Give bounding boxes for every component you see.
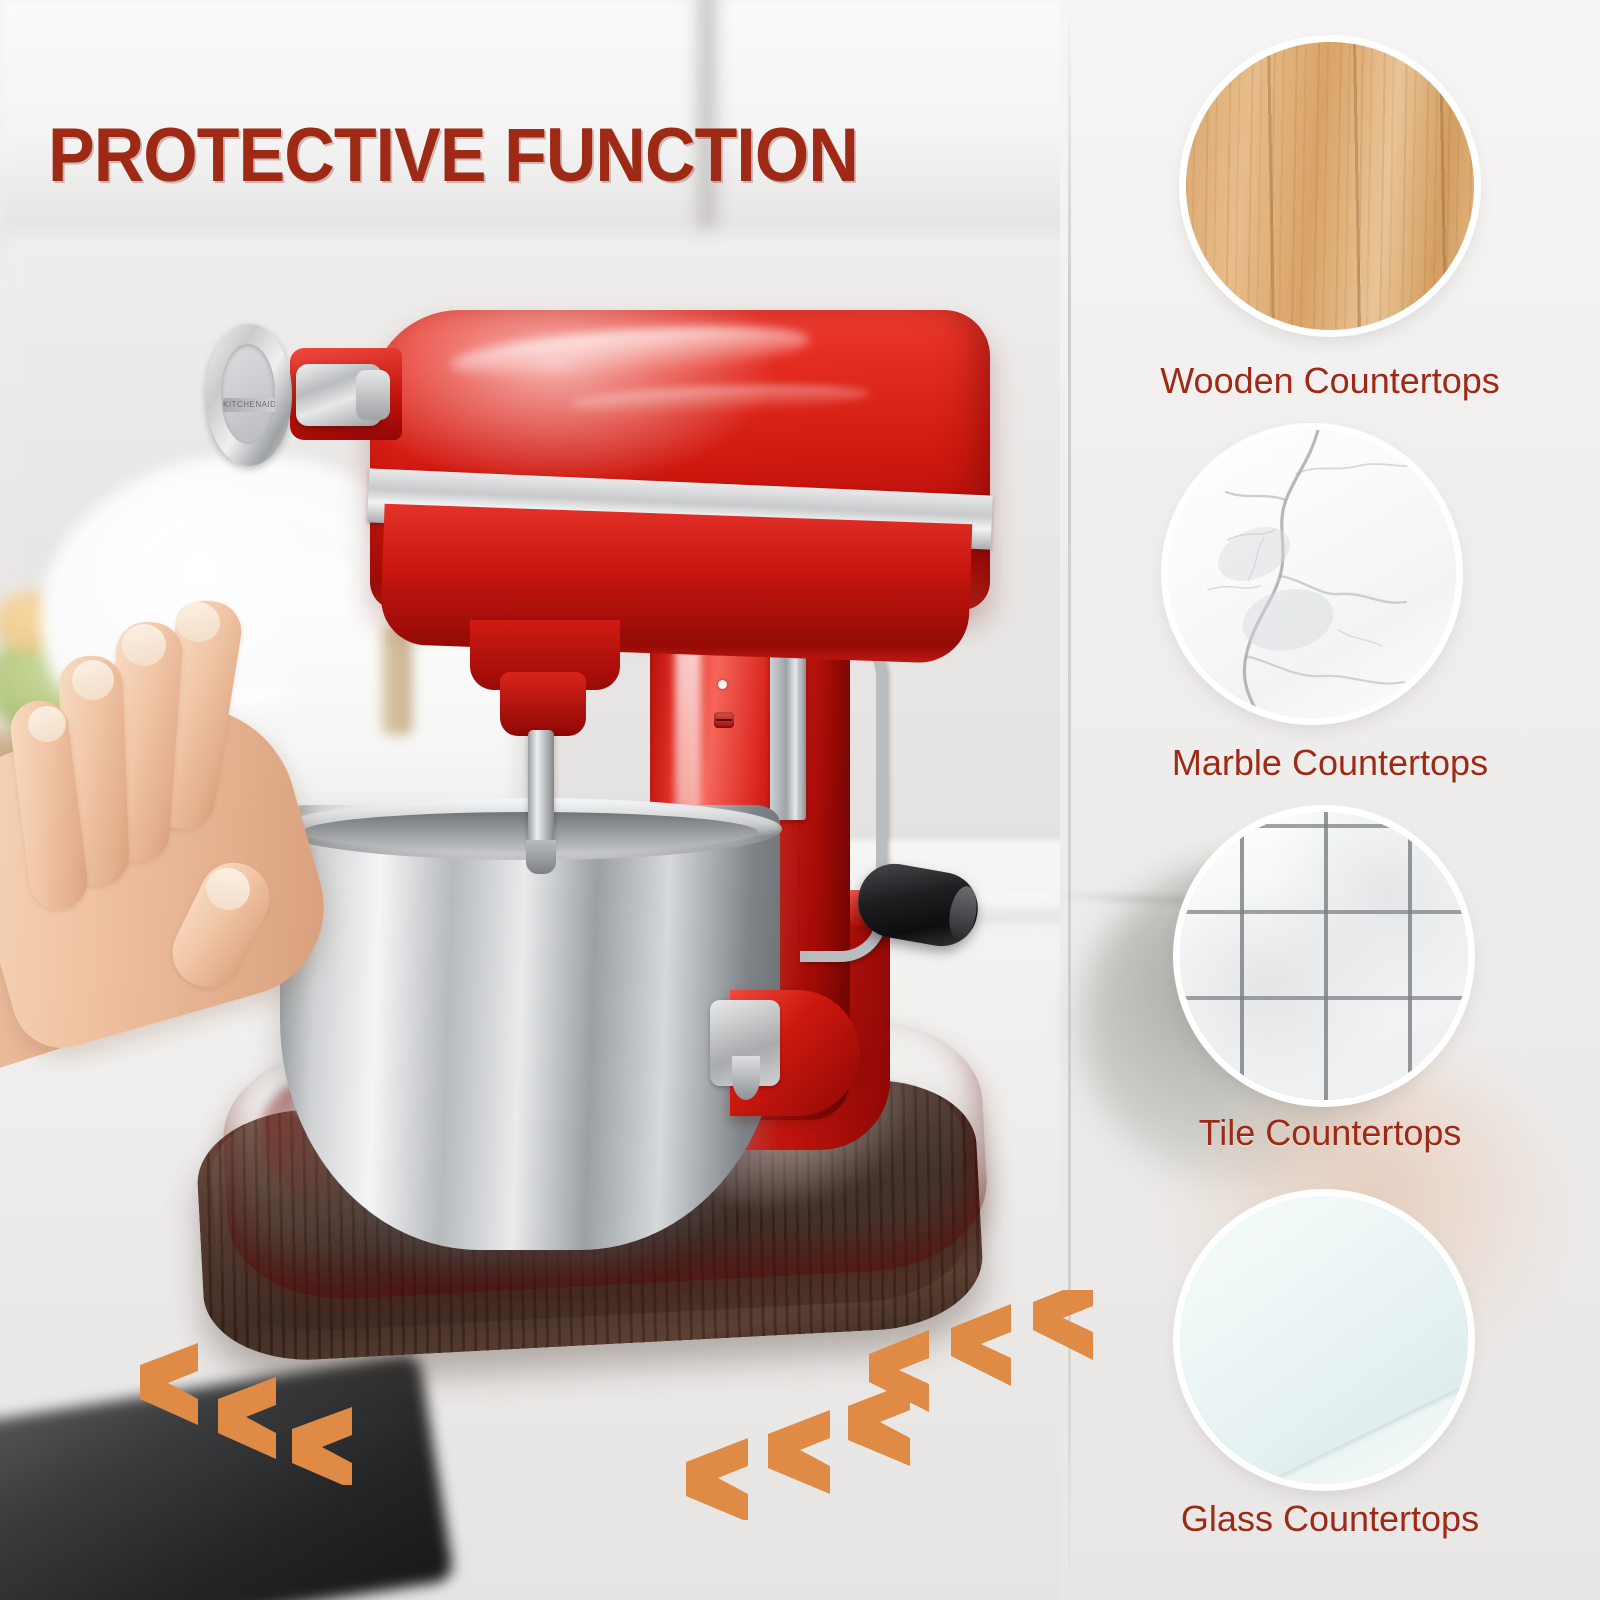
marble-vein-lines [1168, 430, 1456, 718]
glass-texture-circle [1180, 1196, 1468, 1484]
bowl-locking-pin [732, 1056, 760, 1100]
caption-tile-countertops: Tile Countertops [1060, 1112, 1600, 1154]
marble-texture-circle [1168, 430, 1456, 718]
left-chevron-icon [120, 1325, 400, 1485]
mixer-indicator-dot [718, 680, 727, 689]
marketing-image: PROTECTIVE FUNCTION KITCHE [0, 0, 1600, 1600]
attachment-hub-port [221, 344, 275, 444]
brand-logo: KITCHENAID [223, 398, 275, 412]
right-chevron-icon [855, 1290, 1155, 1460]
tile-grid-texture [1180, 812, 1468, 1100]
glass-edge-texture [1180, 1196, 1468, 1484]
wood-texture-circle [1186, 42, 1474, 330]
caption-marble-countertops: Marble Countertops [1060, 742, 1600, 784]
beater-shaft [528, 730, 554, 850]
caption-wooden-countertops: Wooden Countertops [1060, 360, 1600, 402]
pushing-hand [0, 560, 360, 1080]
beater-housing [500, 672, 586, 736]
mixer-head-lower [380, 504, 973, 664]
beater-shaft-tip [526, 840, 556, 874]
wood-grain-texture [1186, 42, 1474, 330]
left-arrows [120, 1325, 400, 1485]
caption-glass-countertops: Glass Countertops [1060, 1498, 1600, 1540]
mixer-column-screw [714, 712, 734, 728]
right-arrows [855, 1290, 1155, 1460]
marble-veining-texture [1168, 430, 1456, 718]
attachment-hub-knob-cap [356, 370, 390, 420]
page-title: PROTECTIVE FUNCTION [48, 112, 858, 199]
tile-texture-circle [1180, 812, 1468, 1100]
